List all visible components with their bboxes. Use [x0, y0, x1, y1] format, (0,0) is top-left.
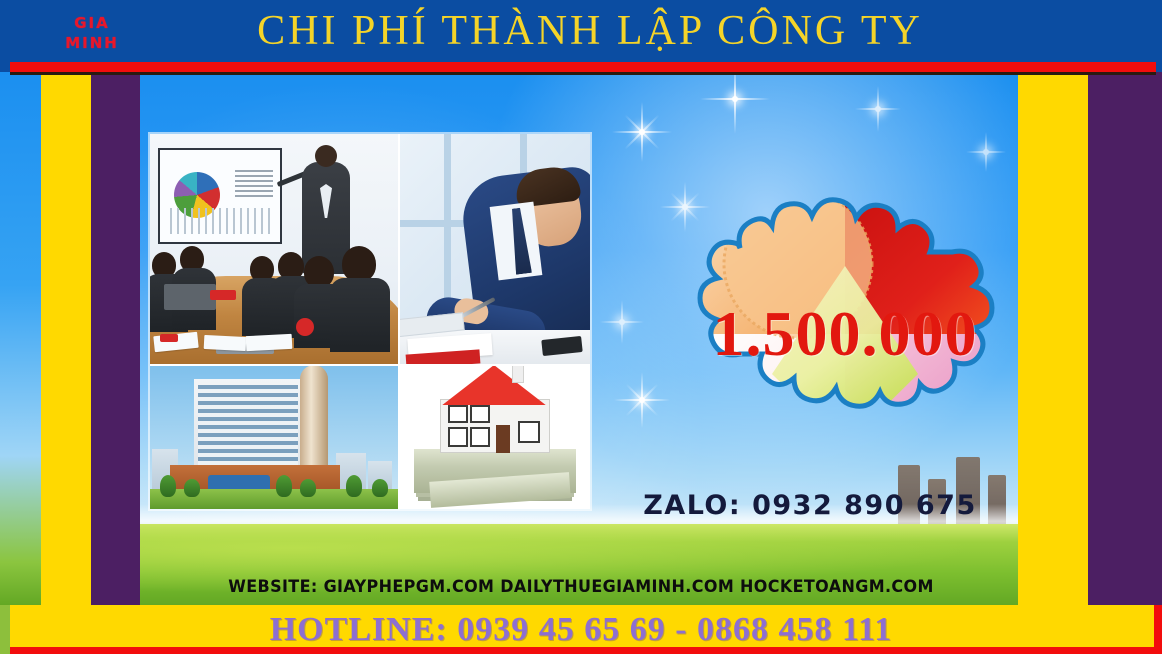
poster-banner: GIA MINH CHI PHÍ THÀNH LẬP CÔNG TY — [0, 0, 1162, 654]
left-blue-strip — [0, 72, 41, 605]
right-yellow-strip — [1018, 72, 1088, 605]
hotline-text: HOTLINE: 0939 45 65 69 - 0868 458 111 — [270, 611, 893, 649]
price-value: 1.500.000 — [680, 184, 1010, 484]
photo-collage — [150, 134, 590, 509]
header-red-divider — [10, 60, 1156, 75]
scene-background: 1.500.000 ZALO: 0932 890 675 — [0, 72, 1162, 605]
page-title: CHI PHÍ THÀNH LẬP CÔNG TY — [150, 7, 1030, 55]
brand-logo: GIA MINH — [38, 13, 146, 53]
bottom-red-frame — [0, 647, 1162, 654]
photo-business-meeting — [150, 134, 398, 364]
bottom-right-accent — [1154, 605, 1162, 654]
brand-logo-line1: GIA — [38, 13, 146, 33]
right-purple-strip — [1088, 72, 1162, 605]
header-bar: GIA MINH CHI PHÍ THÀNH LẬP CÔNG TY — [0, 0, 1162, 62]
photo-house-on-money — [400, 366, 590, 509]
bottom-left-accent — [0, 605, 10, 654]
price-badge: 1.500.000 — [680, 184, 1010, 484]
zalo-contact: ZALO: 0932 890 675 — [600, 490, 1020, 521]
photo-office-building — [150, 366, 398, 509]
photo-businessman-writing — [400, 134, 590, 364]
brand-logo-line2: MINH — [38, 33, 146, 53]
left-purple-strip — [91, 72, 140, 605]
website-line: WEBSITE: GIAYPHEPGM.COM DAILYTHUEGIAMINH… — [35, 570, 1127, 604]
left-yellow-strip — [41, 72, 91, 605]
